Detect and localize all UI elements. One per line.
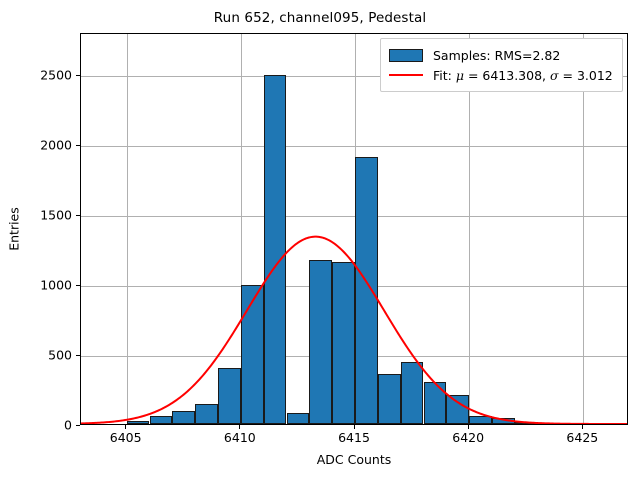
legend-fit-prefix: Fit: — [433, 68, 456, 83]
y-tick-mark — [76, 355, 80, 356]
y-tick-mark — [76, 425, 80, 426]
y-tick-label: 1500 — [28, 208, 72, 223]
x-tick-mark — [125, 425, 126, 429]
y-tick-mark — [76, 145, 80, 146]
x-axis-label: ADC Counts — [80, 452, 628, 467]
legend-label-fit: Fit: μ = 6413.308, σ = 3.012 — [433, 68, 613, 83]
legend-item-fit: Fit: μ = 6413.308, σ = 3.012 — [389, 65, 613, 85]
legend: Samples: RMS=2.82 Fit: μ = 6413.308, σ =… — [380, 38, 623, 92]
x-tick-mark — [582, 425, 583, 429]
chart-title: Run 652, channel095, Pedestal — [0, 10, 640, 26]
y-tick-mark — [76, 285, 80, 286]
legend-swatch-line-icon — [389, 69, 423, 82]
x-tick-label: 6410 — [224, 430, 256, 445]
x-tick-label: 6425 — [566, 430, 598, 445]
y-tick-label: 1000 — [28, 278, 72, 293]
x-tick-mark — [468, 425, 469, 429]
y-tick-label: 0 — [28, 418, 72, 433]
legend-label-samples: Samples: RMS=2.82 — [433, 48, 560, 63]
y-tick-label: 2000 — [28, 138, 72, 153]
y-axis-label: Entries — [7, 207, 22, 251]
y-tick-mark — [76, 215, 80, 216]
legend-swatch-bar-icon — [389, 49, 423, 62]
x-tick-label: 6415 — [338, 430, 370, 445]
legend-item-samples: Samples: RMS=2.82 — [389, 45, 613, 65]
x-tick-label: 6405 — [110, 430, 142, 445]
fit-curve — [81, 34, 627, 424]
y-tick-label: 500 — [28, 348, 72, 363]
figure-canvas: Run 652, channel095, Pedestal 0500100015… — [0, 0, 640, 480]
legend-fit-sigma: = 3.012 — [559, 68, 613, 83]
x-tick-label: 6420 — [452, 430, 484, 445]
y-tick-label: 2500 — [28, 68, 72, 83]
y-tick-mark — [76, 75, 80, 76]
x-tick-mark — [354, 425, 355, 429]
x-tick-mark — [239, 425, 240, 429]
mu-symbol: μ — [456, 68, 464, 83]
legend-fit-mu: = 6413.308, — [464, 68, 550, 83]
sigma-symbol: σ — [550, 68, 559, 83]
fit-curve-path — [81, 237, 627, 424]
